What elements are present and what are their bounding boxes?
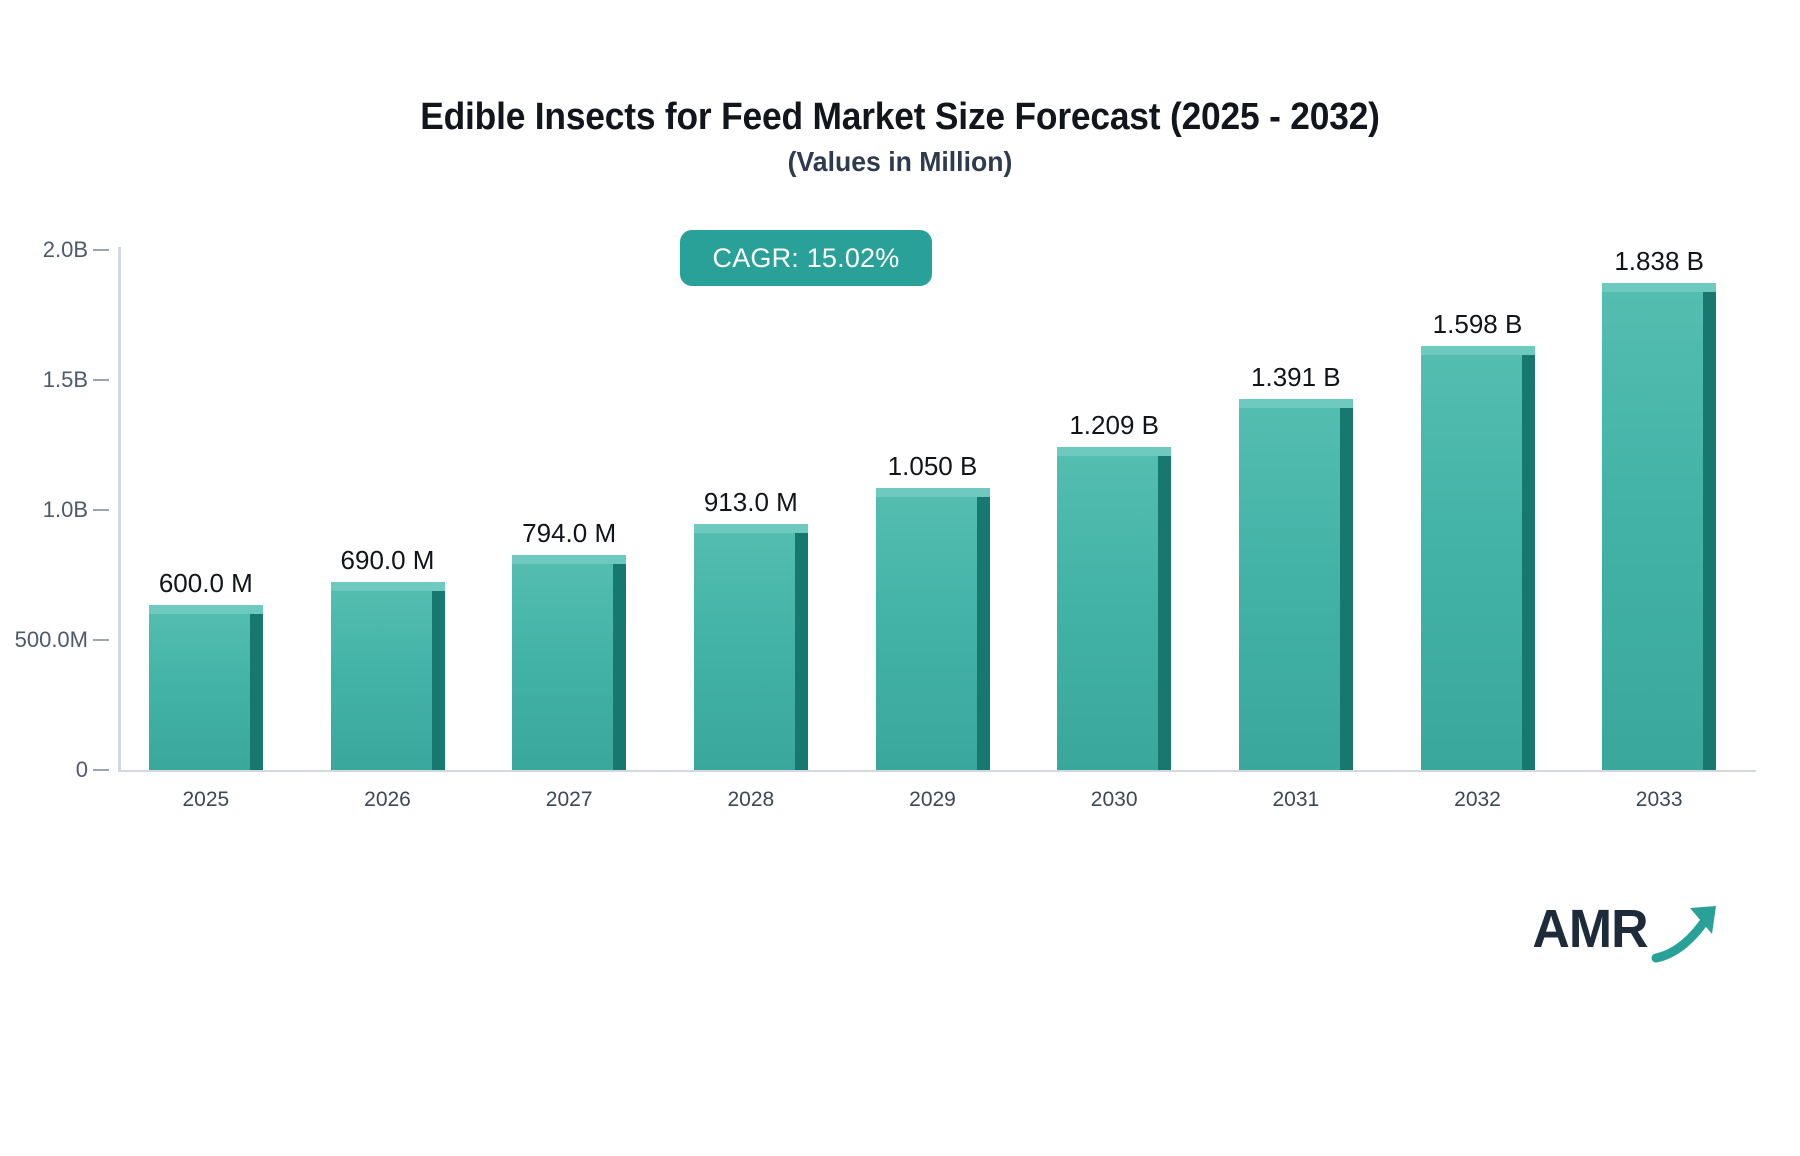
bar-front-face — [1421, 355, 1522, 770]
x-axis-label: 2026 — [364, 788, 411, 812]
bar-front-face — [1057, 456, 1158, 770]
bar-front-face — [694, 533, 795, 770]
bar-side-face — [613, 564, 626, 770]
amr-logo: AMR — [1530, 890, 1730, 970]
y-axis-tick — [93, 509, 109, 511]
bar-value-label: 1.050 B — [888, 451, 978, 482]
bar-top-face — [149, 605, 263, 614]
bar-value-label: 600.0 M — [159, 568, 253, 599]
bar-front-face — [149, 614, 250, 770]
x-axis-label: 2025 — [182, 788, 229, 812]
bar-side-face — [1522, 355, 1535, 770]
y-axis-tick — [93, 639, 109, 641]
chart-page: Edible Insects for Feed Market Size Fore… — [0, 0, 1800, 1156]
bar-top-face — [694, 524, 808, 533]
bar-side-face — [432, 591, 445, 770]
bar-top-face — [876, 488, 990, 497]
x-axis-label: 2032 — [1454, 788, 1501, 812]
y-axis-tick — [93, 769, 109, 771]
bar[interactable] — [1421, 346, 1535, 770]
bar[interactable] — [331, 582, 445, 770]
bar-top-face — [1602, 283, 1716, 292]
bar-side-face — [795, 533, 808, 770]
bar-value-label: 913.0 M — [704, 487, 798, 518]
bar-side-face — [1340, 408, 1353, 770]
bar-front-face — [331, 591, 432, 770]
bar-value-label: 1.391 B — [1251, 362, 1341, 393]
bar[interactable] — [149, 605, 263, 770]
bar-front-face — [876, 497, 977, 770]
x-axis-line — [118, 770, 1756, 772]
amr-logo-text: AMR — [1532, 898, 1647, 960]
bar-front-face — [1239, 408, 1340, 770]
bar-side-face — [1158, 456, 1171, 770]
x-axis-label: 2031 — [1272, 788, 1319, 812]
bar-side-face — [250, 614, 263, 770]
bar-value-label: 794.0 M — [522, 518, 616, 549]
bar[interactable] — [1057, 447, 1171, 770]
y-axis-tick — [93, 379, 109, 381]
y-axis-label: 2.0B — [43, 237, 88, 263]
bar-value-label: 690.0 M — [341, 545, 435, 576]
bar-value-label: 1.598 B — [1433, 309, 1523, 340]
x-axis-label: 2027 — [546, 788, 593, 812]
y-axis-label: 0 — [76, 757, 88, 783]
bar[interactable] — [876, 488, 990, 770]
bar-top-face — [1057, 447, 1171, 456]
x-axis-label: 2029 — [909, 788, 956, 812]
x-axis-label: 2033 — [1636, 788, 1683, 812]
bar-value-label: 1.838 B — [1614, 246, 1704, 277]
bar-side-face — [1703, 292, 1716, 770]
plot-area: 0500.0M1.0B1.5B2.0B 600.0 M690.0 M794.0 … — [0, 0, 1800, 1156]
x-axis-label: 2028 — [727, 788, 774, 812]
bar-top-face — [1421, 346, 1535, 355]
y-axis-line — [118, 247, 121, 772]
x-axis-label: 2030 — [1091, 788, 1138, 812]
bar[interactable] — [512, 555, 626, 770]
y-axis-label: 1.5B — [43, 367, 88, 393]
bar-front-face — [1602, 292, 1703, 770]
y-axis-label: 1.0B — [43, 497, 88, 523]
bar-value-label: 1.209 B — [1069, 410, 1159, 441]
bar-side-face — [977, 497, 990, 770]
bar-top-face — [1239, 399, 1353, 408]
y-axis-label: 500.0M — [15, 627, 88, 653]
y-axis-tick — [93, 249, 109, 251]
up-right-arrow-icon — [1650, 904, 1730, 969]
bar-top-face — [331, 582, 445, 591]
bar[interactable] — [1602, 283, 1716, 770]
bar-front-face — [512, 564, 613, 770]
bar[interactable] — [694, 524, 808, 770]
bar[interactable] — [1239, 399, 1353, 770]
bar-top-face — [512, 555, 626, 564]
